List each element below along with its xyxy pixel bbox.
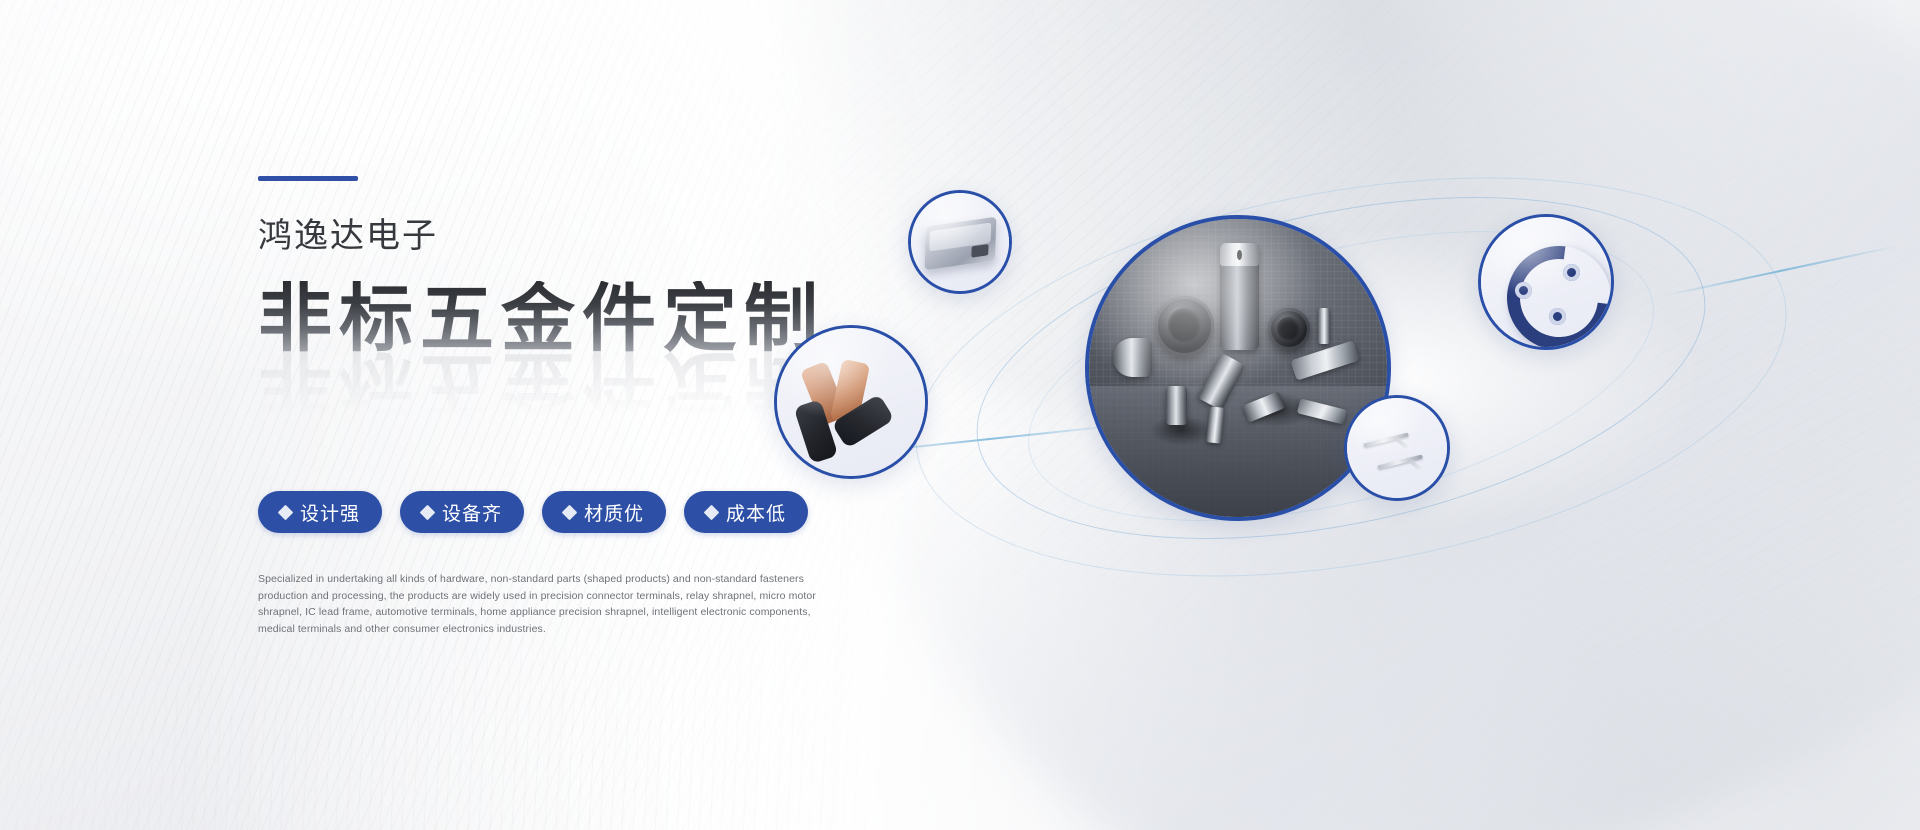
- product-node-retaining-ring[interactable]: [1478, 214, 1614, 350]
- feature-pill-label: 材质优: [584, 499, 644, 526]
- product-node-terminal-pins[interactable]: [1344, 395, 1450, 501]
- machined-parts-photo: [1089, 219, 1387, 517]
- headline-reflection: 非标五金件定制: [258, 347, 825, 422]
- diamond-icon: [278, 504, 294, 520]
- diamond-icon: [420, 504, 436, 520]
- feature-pill-label: 成本低: [726, 499, 786, 526]
- product-node-battery-clamp[interactable]: [774, 325, 928, 479]
- brand-name: 鸿逸达电子: [258, 219, 918, 253]
- feature-pill-equipment[interactable]: 设备齐: [400, 491, 524, 533]
- node-background: [1347, 398, 1447, 498]
- feature-pill-list: 设计强 设备齐 材质优 成本低: [258, 491, 918, 533]
- feature-pill-cost[interactable]: 成本低: [684, 491, 808, 533]
- part-ring-large: [1155, 296, 1215, 356]
- feature-pill-label: 设计强: [300, 499, 360, 526]
- feature-pill-material[interactable]: 材质优: [542, 491, 666, 533]
- part-stud: [1318, 308, 1330, 344]
- diamond-icon: [704, 504, 720, 520]
- part-ring-small: [1268, 308, 1310, 350]
- accent-rule: [258, 176, 358, 181]
- feature-pill-design[interactable]: 设计强: [258, 491, 382, 533]
- part-cylinder-tall: [1220, 243, 1259, 350]
- feature-pill-label: 设备齐: [442, 499, 502, 526]
- company-description: Specialized in undertaking all kinds of …: [258, 571, 823, 637]
- diamond-icon: [562, 504, 578, 520]
- ring-lug: [1549, 308, 1566, 325]
- part-connector-head: [1113, 338, 1152, 377]
- hero-banner: 鸿逸达电子 非标五金件定制 非标五金件定制 设计强 设备齐 材质优 成本低: [0, 0, 1920, 830]
- product-showcase: [900, 120, 1880, 640]
- product-node-metal-enclosure[interactable]: [908, 190, 1012, 294]
- ring-lug: [1563, 264, 1580, 281]
- part-bushing: [1166, 386, 1187, 425]
- part-cap: [1220, 243, 1259, 267]
- product-node-machined-parts[interactable]: [1085, 215, 1391, 521]
- page-title: 非标五金件定制: [258, 281, 825, 356]
- ring-lug: [1515, 282, 1532, 299]
